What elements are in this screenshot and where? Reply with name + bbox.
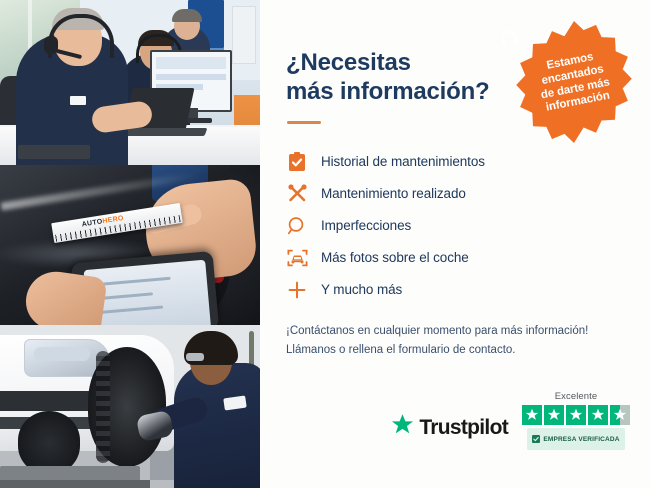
tyre-tread: [96, 351, 110, 463]
star-half-5: [610, 405, 630, 425]
list-item-maintenance-history: Historial de mantenimientos: [286, 146, 626, 178]
headline-line-2: más información?: [286, 78, 490, 105]
list-item-much-more: Y mucho más: [286, 274, 626, 306]
contact-line-2: Llámanos o rellena el formulario de cont…: [286, 341, 626, 360]
verified-company-badge: EMPRESA VERIFICADA: [527, 428, 624, 450]
office-shelf: [232, 6, 256, 64]
trustpilot-logo[interactable]: Trustpilot: [390, 413, 508, 450]
plus-icon: [286, 279, 308, 301]
list-item-more-photos: Más fotos sobre el coche: [286, 242, 626, 274]
list-item-imperfections: Imperfecciones: [286, 210, 626, 242]
trustpilot-star-icon: [390, 413, 415, 442]
star-filled-3: [566, 405, 586, 425]
background-agent-hair: [172, 9, 202, 22]
mechanic-wheel-photo: [0, 325, 260, 488]
car-inspection-ruler-photo: AUTOHERO: [0, 165, 260, 325]
headlight-inner: [34, 347, 90, 361]
list-item-label: Historial de mantenimientos: [321, 154, 485, 169]
feature-list: Historial de mantenimientos Mantenimient…: [286, 146, 626, 306]
star-filled-4: [588, 405, 608, 425]
status-badge: Estamos encantados de darte más informac…: [510, 18, 638, 146]
safety-glasses-icon: [186, 353, 204, 361]
page-title: ¿Necesitas más información?: [286, 48, 501, 107]
title-underline-rule: [287, 121, 321, 124]
laptop-base: [119, 128, 208, 136]
tablet-text-line: [95, 305, 163, 314]
contact-text: ¡Contáctanos en cualquier momento para m…: [286, 322, 626, 360]
list-item-maintenance-done: Mantenimiento realizado: [286, 178, 626, 210]
information-promo-card: AUTOHERO: [0, 0, 650, 488]
list-item-label: Y mucho más: [321, 282, 402, 297]
starburst-path: [516, 21, 632, 143]
list-item-label: Más fotos sobre el coche: [321, 250, 469, 265]
contact-line-1: ¡Contáctanos en cualquier momento para m…: [286, 322, 626, 341]
star-filled-1: [522, 405, 542, 425]
car-photo-frame-icon: [286, 247, 308, 269]
starburst-shape: [510, 18, 638, 146]
front-agent-name-badge: [70, 96, 86, 105]
list-item-label: Mantenimiento realizado: [321, 186, 466, 201]
trustpilot-wordmark: Trustpilot: [419, 416, 508, 440]
verified-company-label: EMPRESA VERIFICADA: [543, 436, 619, 443]
verified-check-icon: [532, 430, 540, 448]
trustpilot-widget[interactable]: Trustpilot Excelente: [390, 391, 630, 450]
star-filled-2: [544, 405, 564, 425]
trustpilot-rating-block: Excelente: [522, 391, 630, 450]
clipboard-check-icon: [286, 151, 308, 173]
tools-icon: [286, 183, 308, 205]
headline-line-1: ¿Necesitas: [286, 49, 411, 76]
photo-column: AUTOHERO: [0, 0, 260, 488]
magnifier-icon: [286, 215, 308, 237]
keyboard: [18, 145, 90, 159]
content-panel: ¿Necesitas más información? Historial de…: [260, 0, 650, 488]
call-center-agents-photo: [0, 0, 260, 165]
lift-base: [0, 480, 150, 488]
trustpilot-stars: [522, 405, 630, 425]
trustpilot-rating-label: Excelente: [555, 391, 598, 402]
list-item-label: Imperfecciones: [321, 218, 411, 233]
